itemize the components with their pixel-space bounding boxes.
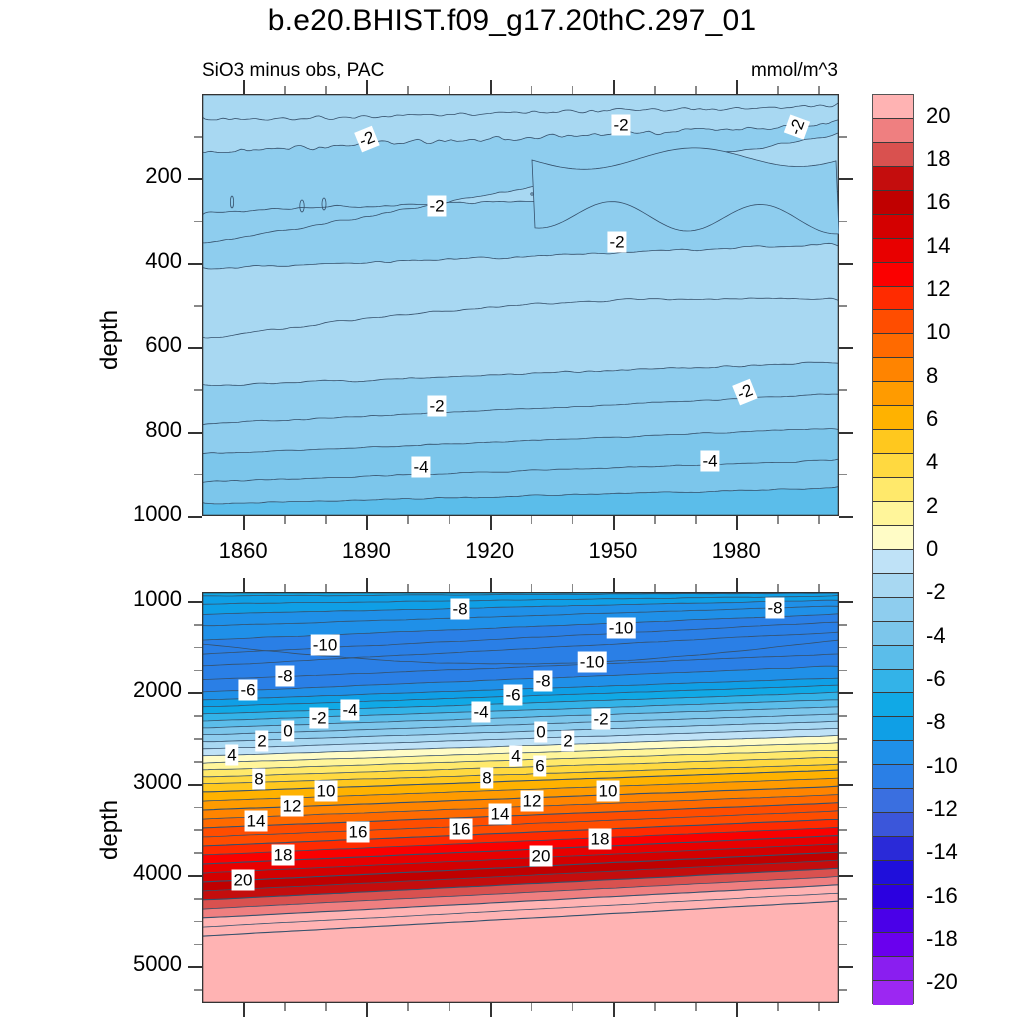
minor-tick-mark [777,584,779,592]
contour-label: -2 [611,115,630,136]
tick-mark [188,784,202,786]
minor-tick-mark [325,584,327,592]
colorbar-tick-label: 6 [926,406,938,432]
colorbar-cell [873,478,913,502]
tick-mark [490,80,492,94]
minor-tick-mark [839,829,847,831]
contour-label: -2 [427,196,446,217]
colorbar-cell [873,909,913,933]
minor-tick-mark [531,584,533,592]
minor-tick-mark [654,1003,656,1011]
colorbar-tick-label: 16 [926,189,950,215]
colorbar-cell [873,885,913,909]
colorbar-cell [873,933,913,957]
minor-tick-mark [449,584,451,592]
tick-mark [839,692,853,694]
colorbar-cell [873,789,913,813]
colorbar-tick-label: -18 [926,926,958,952]
colorbar-cell [873,813,913,837]
contour-label: 16 [450,819,473,840]
colorbar-cell [873,765,913,789]
tick-mark [839,875,853,877]
minor-tick-mark [194,647,202,649]
minor-tick-mark [818,1003,820,1011]
tick-mark [243,578,245,592]
minor-tick-mark [284,1003,286,1011]
minor-tick-mark [818,584,820,592]
minor-tick-mark [325,1003,327,1011]
minor-tick-mark [284,584,286,592]
minor-tick-mark [194,898,202,900]
minor-tick-mark [839,944,847,946]
y-axis-tick-label: 400 [72,248,182,274]
contour-label: 14 [245,811,268,832]
tick-mark [839,432,853,434]
minor-tick-mark [449,86,451,94]
tick-mark [188,347,202,349]
colorbar-cell [873,382,913,406]
minor-tick-mark [839,305,847,307]
contour-label: -8 [765,598,784,619]
minor-tick-mark [654,516,656,524]
minor-tick-mark [531,516,533,524]
colorbar-cell [873,670,913,694]
upper-axis-title-depth: depth [96,310,124,370]
contour-label: -2 [607,232,626,253]
colorbar-tick-label: 4 [926,449,938,475]
contour-label: -2 [309,708,328,729]
colorbar-tick-label: -20 [926,969,958,995]
minor-tick-mark [194,944,202,946]
minor-tick-mark [194,474,202,476]
tick-mark [490,1003,492,1017]
tick-mark [366,516,368,530]
y-axis-tick-label: 3000 [72,769,182,795]
minor-tick-mark [572,584,574,592]
minor-tick-mark [407,516,409,524]
tick-mark [613,516,615,530]
colorbar [872,94,914,1004]
minor-tick-mark [572,1003,574,1011]
plot-subtitle: SiO3 minus obs, PAC [202,60,384,82]
upper-ocean-contour-plot [202,94,839,516]
minor-tick-mark [839,738,847,740]
minor-tick-mark [194,136,202,138]
colorbar-cell [873,550,913,574]
tick-mark [366,1003,368,1017]
contour-label: 2 [561,731,574,752]
contour-label: 8 [480,768,493,789]
contour-label: 4 [509,746,522,767]
tick-mark [839,966,853,968]
x-axis-tick-label: 1920 [440,538,540,564]
minor-tick-mark [194,921,202,923]
colorbar-tick-label: -6 [926,666,946,692]
minor-tick-mark [194,221,202,223]
contour-label: -10 [311,635,340,656]
minor-tick-mark [695,1003,697,1011]
colorbar-cell [873,693,913,717]
minor-tick-mark [194,761,202,763]
minor-tick-mark [839,921,847,923]
tick-mark [839,601,853,603]
units-label: mmol/m^3 [751,60,838,82]
colorbar-tick-label: -8 [926,709,946,735]
colorbar-tick-label: -16 [926,883,958,909]
minor-tick-mark [325,516,327,524]
colorbar-tick-label: -4 [926,623,946,649]
colorbar-cell [873,215,913,239]
colorbar-tick-label: 2 [926,493,938,519]
colorbar-cell [873,837,913,861]
minor-tick-mark [654,584,656,592]
page-title: b.e20.BHIST.f09_g17.20thC.297_01 [0,4,1024,38]
contour-label: 2 [255,731,268,752]
minor-tick-mark [194,715,202,717]
minor-tick-mark [777,1003,779,1011]
minor-tick-mark [449,1003,451,1011]
colorbar-cell [873,981,913,1005]
tick-mark [243,1003,245,1017]
contour-label: -10 [607,618,636,639]
colorbar-cell [873,263,913,287]
colorbar-tick-label: 10 [926,319,950,345]
minor-tick-mark [284,516,286,524]
colorbar-cell [873,454,913,478]
colorbar-cell [873,143,913,167]
colorbar-cell [873,741,913,765]
colorbar-tick-label: -10 [926,753,958,779]
colorbar-cell [873,861,913,885]
colorbar-cell [873,717,913,741]
tick-mark [243,516,245,530]
contour-label: 14 [489,804,512,825]
tick-mark [188,601,202,603]
contour-label: 20 [232,870,255,891]
colorbar-cell [873,598,913,622]
contour-label: 18 [589,829,612,850]
contour-label: -8 [533,671,552,692]
colorbar-tick-label: 18 [926,146,950,172]
contour-label: -10 [578,652,607,673]
tick-mark [366,578,368,592]
minor-tick-mark [194,852,202,854]
y-axis-tick-label: 200 [72,163,182,189]
minor-tick-mark [407,1003,409,1011]
tick-mark [839,263,853,265]
tick-mark [366,80,368,94]
minor-tick-mark [818,516,820,524]
minor-tick-mark [654,86,656,94]
contour-label: -4 [411,457,430,478]
minor-tick-mark [818,86,820,94]
minor-tick-mark [572,516,574,524]
contour-label: -2 [591,709,610,730]
x-axis-tick-label: 1950 [563,538,663,564]
colorbar-tick-label: -14 [926,839,958,865]
colorbar-tick-label: 20 [926,103,950,129]
minor-tick-mark [777,86,779,94]
contour-label: -8 [275,666,294,687]
minor-tick-mark [839,715,847,717]
tick-mark [188,692,202,694]
colorbar-tick-label: -12 [926,796,958,822]
contour-label: -4 [471,702,490,723]
minor-tick-mark [839,474,847,476]
tick-mark [613,1003,615,1017]
minor-tick-mark [839,898,847,900]
colorbar-cell [873,119,913,143]
minor-tick-mark [839,670,847,672]
colorbar-cell [873,957,913,981]
minor-tick-mark [839,647,847,649]
colorbar-tick-label: 0 [926,536,938,562]
minor-tick-mark [531,1003,533,1011]
colorbar-cell [873,191,913,215]
colorbar-tick-label: 14 [926,233,950,259]
colorbar-tick-label: -2 [926,579,946,605]
contour-label: -4 [340,700,359,721]
tick-mark [613,578,615,592]
tick-mark [613,80,615,94]
contour-label: 6 [533,756,546,777]
colorbar-cell [873,502,913,526]
minor-tick-mark [839,989,847,991]
tick-mark [736,80,738,94]
minor-tick-mark [194,389,202,391]
minor-tick-mark [194,624,202,626]
colorbar-cell [873,167,913,191]
minor-tick-mark [194,829,202,831]
minor-tick-mark [194,807,202,809]
minor-tick-mark [572,86,574,94]
y-axis-tick-label: 2000 [72,677,182,703]
colorbar-cell [873,430,913,454]
tick-mark [839,516,853,518]
y-axis-tick-label: 1000 [72,586,182,612]
contour-label: -2 [427,396,446,417]
minor-tick-mark [194,305,202,307]
tick-mark [839,784,853,786]
minor-tick-mark [284,86,286,94]
minor-tick-mark [194,738,202,740]
contour-label: 8 [252,769,265,790]
tick-mark [736,516,738,530]
colorbar-cell [873,334,913,358]
contour-label: 20 [530,846,553,867]
colorbar-cell [873,358,913,382]
minor-tick-mark [325,86,327,94]
colorbar-cell [873,287,913,311]
y-axis-tick-label: 800 [72,417,182,443]
minor-tick-mark [407,584,409,592]
colorbar-cell [873,526,913,550]
tick-mark [839,178,853,180]
tick-mark [188,263,202,265]
contour-label: -6 [238,680,257,701]
tick-mark [188,966,202,968]
minor-tick-mark [839,221,847,223]
contour-label: 0 [281,721,294,742]
minor-tick-mark [777,516,779,524]
tick-mark [188,178,202,180]
minor-tick-mark [194,670,202,672]
y-axis-tick-label: 4000 [72,860,182,886]
y-axis-tick-label: 5000 [72,951,182,977]
colorbar-cell [873,239,913,263]
minor-tick-mark [695,516,697,524]
minor-tick-mark [839,852,847,854]
contour-label: 0 [534,722,547,743]
minor-tick-mark [531,86,533,94]
contour-label: 12 [281,796,304,817]
y-axis-tick-label: 1000 [72,501,182,527]
colorbar-cell [873,406,913,430]
contour-label: -8 [450,599,469,620]
tick-mark [839,347,853,349]
contour-label: 4 [225,745,238,766]
x-axis-tick-label: 1860 [193,538,293,564]
colorbar-cell [873,310,913,334]
colorbar-cell [873,574,913,598]
minor-tick-mark [839,761,847,763]
minor-tick-mark [407,86,409,94]
colorbar-cell [873,95,913,119]
colorbar-tick-label: 8 [926,363,938,389]
tick-mark [188,516,202,518]
minor-tick-mark [839,389,847,391]
colorbar-cell [873,646,913,670]
tick-mark [490,516,492,530]
tick-mark [188,875,202,877]
x-axis-tick-label: 1890 [316,538,416,564]
x-axis-tick-label: 1980 [686,538,786,564]
colorbar-tick-label: 12 [926,276,950,302]
colorbar-cell [873,622,913,646]
contour-label: 10 [597,781,620,802]
tick-mark [243,80,245,94]
y-axis-tick-label: 600 [72,332,182,358]
contour-label: -4 [700,451,719,472]
tick-mark [188,432,202,434]
minor-tick-mark [695,86,697,94]
minor-tick-mark [449,516,451,524]
minor-tick-mark [695,584,697,592]
minor-tick-mark [839,136,847,138]
contour-label: -6 [503,685,522,706]
contour-label: 10 [315,781,338,802]
contour-label: 12 [521,791,544,812]
contour-label: 18 [272,845,295,866]
minor-tick-mark [839,807,847,809]
tick-mark [736,1003,738,1017]
minor-tick-mark [194,989,202,991]
minor-tick-mark [839,624,847,626]
tick-mark [490,578,492,592]
contour-label: 16 [347,822,370,843]
lower-axis-title-depth: depth [96,800,124,860]
tick-mark [736,578,738,592]
